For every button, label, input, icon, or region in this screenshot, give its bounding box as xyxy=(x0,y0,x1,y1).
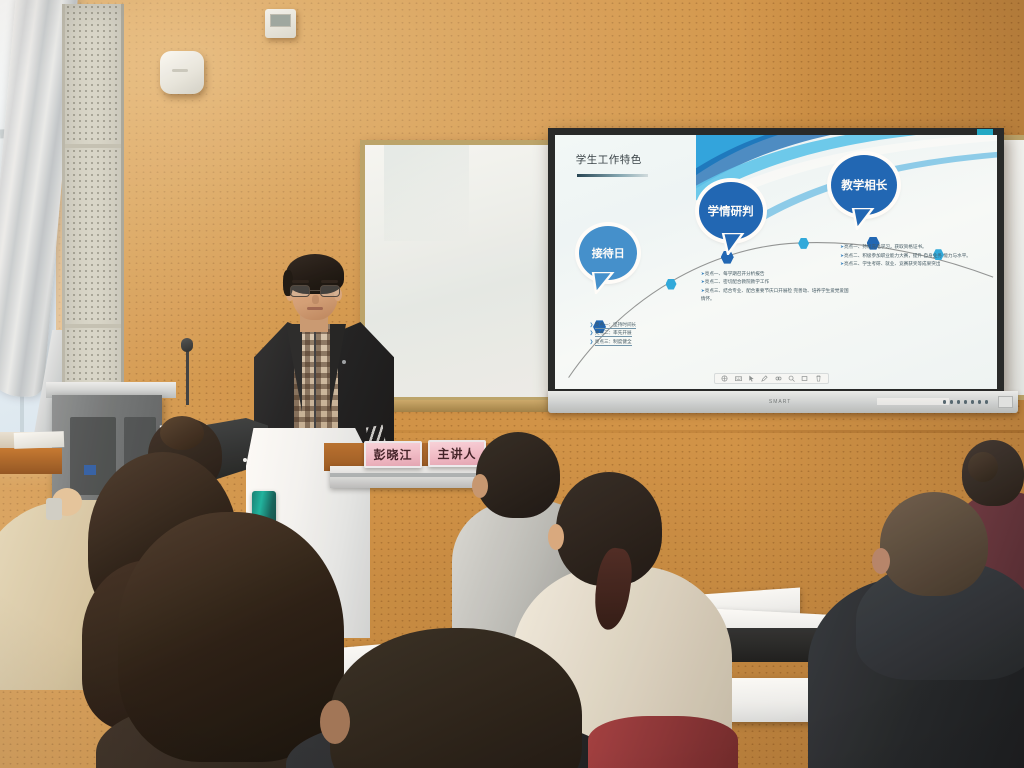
balloon-label: 接待日 xyxy=(592,245,625,261)
hair-bun xyxy=(968,452,998,482)
smart-board-power-button[interactable] xyxy=(998,396,1013,408)
balloon-label: 学情研判 xyxy=(708,203,754,219)
audience-head xyxy=(118,512,344,762)
zoom-icon[interactable] xyxy=(788,375,795,382)
acoustic-panel xyxy=(62,4,124,434)
bullet-text: 亮点三、结合专业、配合重要节庆口开展检 完善动、培养学生爱党爱国情怀。 xyxy=(701,289,849,302)
pan-icon[interactable] xyxy=(721,375,728,382)
smart-board-brand-label: SMART xyxy=(769,399,791,405)
balloon-tail xyxy=(851,208,875,230)
slide-bullets-right: ➤亮点一、持续充电学习，获取资格证书。 ➤亮点二、积极参加职业能力大赛，提升 自… xyxy=(840,244,986,269)
balloon-tail xyxy=(721,233,745,255)
name-card-text: 彭晓江 xyxy=(373,446,412,463)
bullet-text: 亮点三：制度健全 xyxy=(595,340,632,346)
podium-indicator-light xyxy=(243,458,247,462)
balloon-tail xyxy=(591,272,615,294)
presentation-slide: 学生工作特色 接待日 xyxy=(555,135,997,389)
audience-ear xyxy=(320,700,350,744)
cabinet-badge xyxy=(84,465,96,475)
slide-toolbar[interactable] xyxy=(714,373,829,384)
presenter-mouth xyxy=(307,307,323,310)
name-card-presenter: 彭晓江 xyxy=(364,441,422,468)
audience-ear xyxy=(472,474,488,498)
smart-board-side-tab xyxy=(977,129,993,135)
jacket-lapel xyxy=(286,324,302,412)
classroom-photo: 学生工作特色 接待日 xyxy=(0,0,1024,768)
paper-stack xyxy=(14,431,65,449)
presenter-nose xyxy=(312,295,319,304)
bullet-text: 亮点三、学生考研、就业、竞赛获奖等成果突出 xyxy=(844,262,940,267)
trash-icon[interactable] xyxy=(815,375,822,382)
cursor-icon[interactable] xyxy=(748,375,755,382)
audience-ear xyxy=(548,524,564,550)
audience-head xyxy=(476,432,560,518)
shape-icon[interactable] xyxy=(801,375,808,382)
pen-icon[interactable] xyxy=(761,375,768,382)
balloon-label: 教学相长 xyxy=(841,177,887,193)
audience-head xyxy=(880,492,988,596)
jacket-zipper xyxy=(314,330,316,430)
bezel-reflection xyxy=(877,398,949,405)
keyboard-icon[interactable] xyxy=(735,375,742,382)
thermostat-screen xyxy=(270,14,291,27)
jacket-button xyxy=(342,360,346,364)
bullet-text: 亮点一、每学期召开分析报告 xyxy=(705,272,765,277)
hair-bun xyxy=(160,416,204,450)
smart-board-status-leds xyxy=(943,400,989,404)
wristwatch xyxy=(46,498,62,520)
smart-board[interactable]: 学生工作特色 接待日 xyxy=(548,128,1004,396)
bullet-text: 亮点二：率先开展 xyxy=(595,331,632,337)
bullet-text: 亮点一、持续充电学习，获取资格证书。 xyxy=(844,245,927,250)
eraser-icon[interactable] xyxy=(775,375,782,382)
slide-balloon-2: 学情研判 xyxy=(699,182,763,240)
presenter-eyebrow xyxy=(321,280,338,283)
wifi-access-point-icon xyxy=(160,51,204,94)
bullet-text: 亮点二、积极参加职业能力大赛，提升 自身业务 能力与水平。 xyxy=(844,254,971,259)
microphone-icon xyxy=(181,338,193,352)
bullet-text: 亮点一：坚持时间长 xyxy=(595,323,636,329)
name-card-text: 主讲人 xyxy=(437,445,476,462)
smart-board-bezel: SMART xyxy=(548,391,1018,413)
audience-body xyxy=(588,716,738,768)
microphone-stand xyxy=(186,345,189,405)
audience-ear xyxy=(872,548,890,574)
jacket-lapel xyxy=(330,324,346,412)
presenter-eyebrow xyxy=(292,280,309,283)
smart-board-screen[interactable]: 学生工作特色 接待日 xyxy=(555,135,997,389)
thermostat-panel[interactable] xyxy=(265,9,296,38)
slide-bullets-left: ❯ 亮点一：坚持时间长 ❯ 亮点二：率先开展 ❯ 亮点三：制度健全 xyxy=(589,322,636,347)
slide-bullets-middle: ➤亮点一、每学期召开分析报告 ➤亮点二、密切配合教院教学工作 ➤亮点三、结合专业… xyxy=(701,271,851,305)
whiteboard-glare xyxy=(384,145,470,241)
side-desk xyxy=(0,448,62,474)
bullet-text: 亮点二、密切配合教院教学工作 xyxy=(705,280,769,285)
